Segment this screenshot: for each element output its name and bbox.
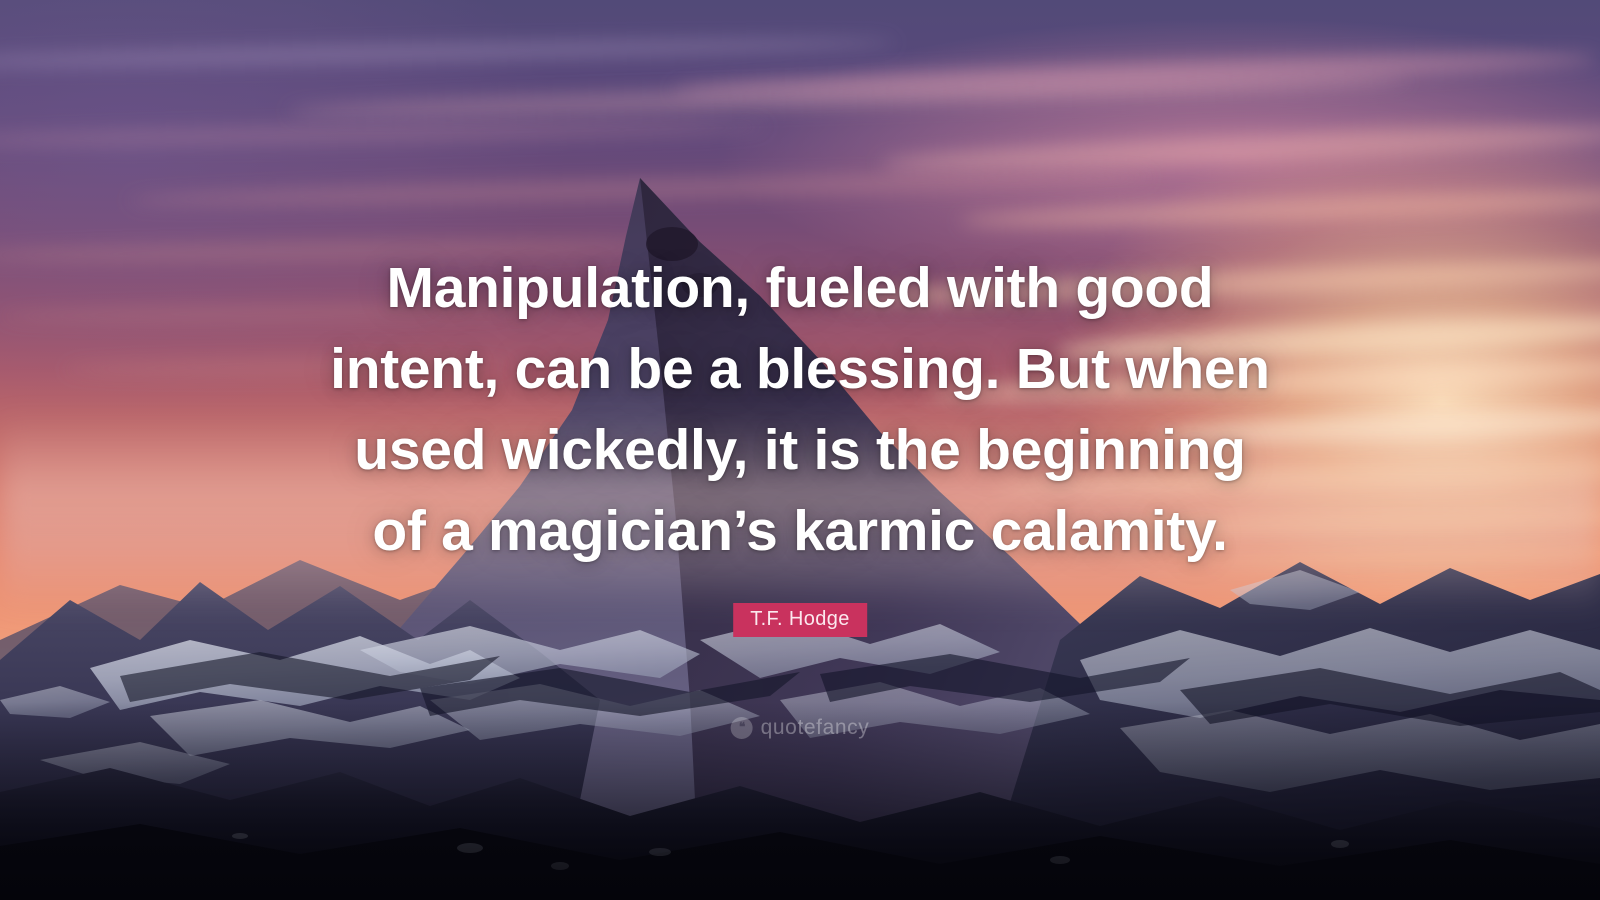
quotefancy-watermark[interactable]: ❝ quotefancy bbox=[731, 716, 870, 740]
quote-poster: Manipulation, fueled with good intent, c… bbox=[0, 0, 1600, 900]
author-attribution-badge[interactable]: T.F. Hodge bbox=[733, 603, 867, 637]
quote-text: Manipulation, fueled with good intent, c… bbox=[0, 248, 1600, 572]
quote-mark-logo-icon: ❝ bbox=[731, 717, 753, 739]
watermark-brand-label: quotefancy bbox=[761, 716, 870, 740]
